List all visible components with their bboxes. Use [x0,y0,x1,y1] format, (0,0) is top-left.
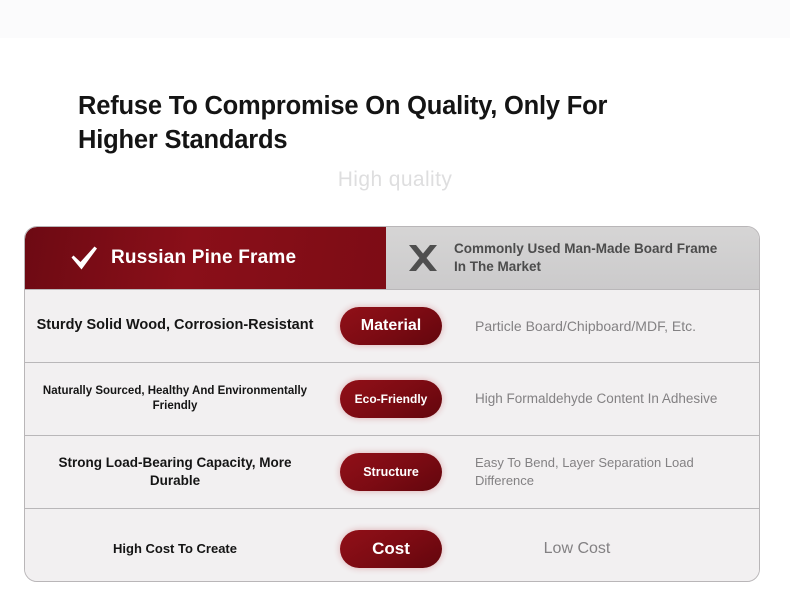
row-left-value: High Cost To Create [25,540,325,557]
row-left-value: Strong Load-Bearing Capacity, More Durab… [25,454,325,490]
top-background-band [0,0,790,38]
row-right-value: Low Cost [457,538,759,560]
table-row: High Cost To Create Cost Low Cost [25,508,759,582]
row-right-value: Particle Board/Chipboard/MDF, Etc. [457,317,759,336]
row-badge-wrap: Material [325,307,457,345]
check-icon [69,245,99,271]
page-title: Refuse To Compromise On Quality, Only Fo… [78,90,678,157]
header-cell-our-product: Russian Pine Frame [25,227,386,289]
status-badge: Structure [340,453,442,491]
header-label-competitor: Commonly Used Man-Made Board Frame In Th… [454,240,729,276]
row-badge-wrap: Structure [325,453,457,491]
status-badge: Material [340,307,442,345]
comparison-table: Russian Pine Frame Commonly Used Man-Mad… [24,226,760,582]
row-left-value: Naturally Sourced, Healthy And Environme… [25,384,325,415]
table-row: Sturdy Solid Wood, Corrosion-Resistant M… [25,289,759,362]
row-right-value: High Formaldehyde Content In Adhesive [457,390,759,408]
x-icon [406,243,440,273]
row-badge-wrap: Eco-Friendly [325,380,457,418]
table-row: Naturally Sourced, Healthy And Environme… [25,362,759,435]
row-left-value: Sturdy Solid Wood, Corrosion-Resistant [25,316,325,335]
header-cell-competitor: Commonly Used Man-Made Board Frame In Th… [386,227,759,289]
row-badge-wrap: Cost [325,530,457,568]
status-badge: Cost [340,530,442,568]
row-right-value: Easy To Bend, Layer Separation Load Diff… [457,454,759,489]
table-row: Strong Load-Bearing Capacity, More Durab… [25,435,759,508]
header-label-our-product: Russian Pine Frame [111,247,296,269]
watermark-text: High quality [0,168,790,192]
status-badge: Eco-Friendly [340,380,442,418]
comparison-table-header: Russian Pine Frame Commonly Used Man-Mad… [25,227,759,289]
